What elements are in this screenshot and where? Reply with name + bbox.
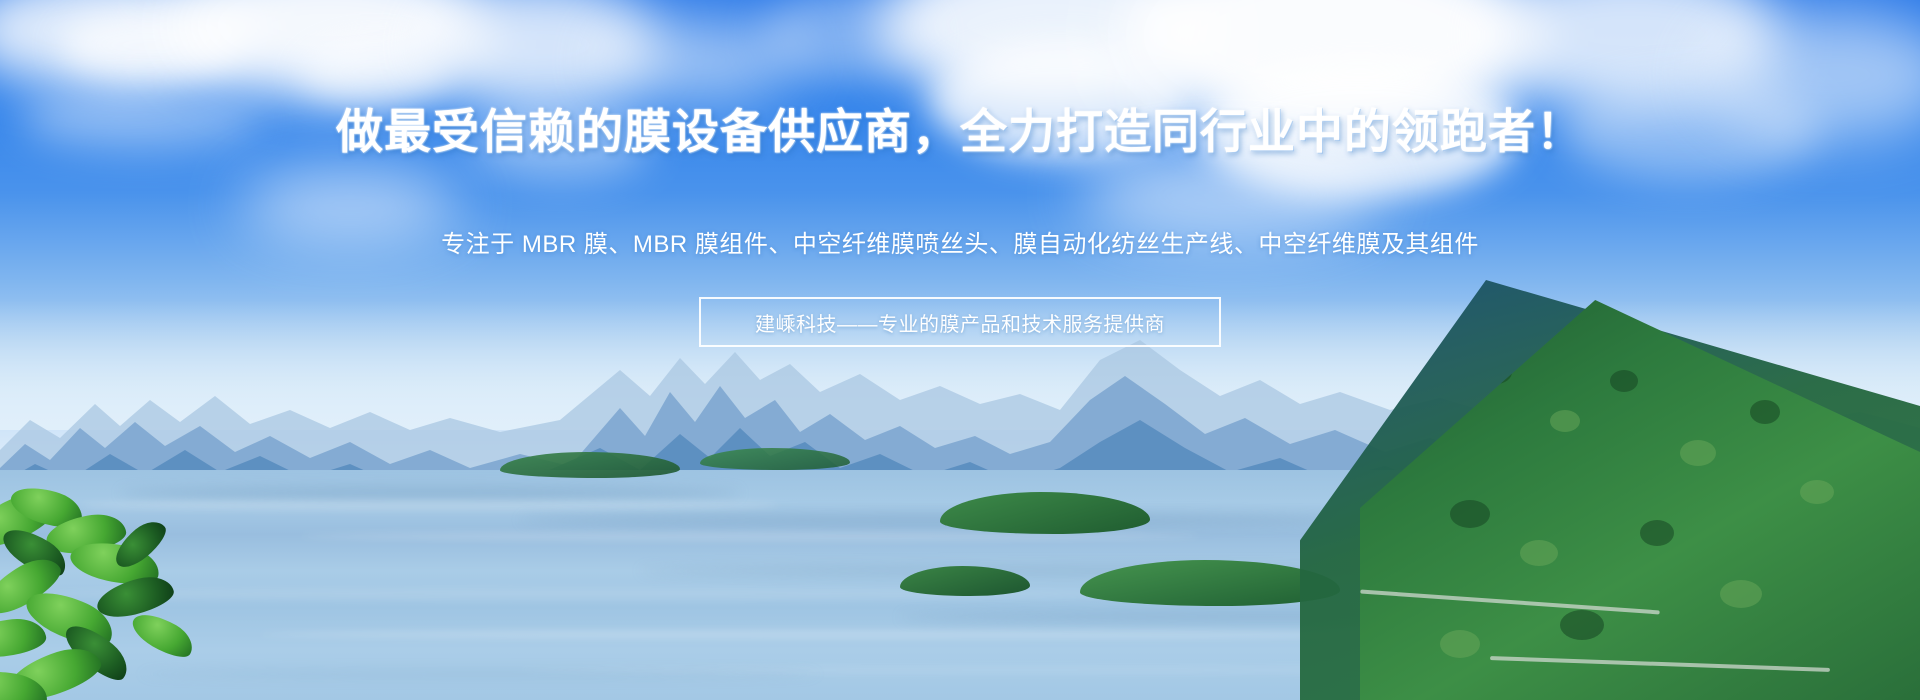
hillside-road xyxy=(1360,590,1660,615)
tagline-container: 建嵊科技——专业的膜产品和技术服务提供商 xyxy=(0,297,1920,347)
hero-banner: 做最受信赖的膜设备供应商，全力打造同行业中的领跑者！ 专注于 MBR 膜、MBR… xyxy=(0,0,1920,700)
foreground-foliage xyxy=(0,490,230,700)
tagline-box: 建嵊科技——专业的膜产品和技术服务提供商 xyxy=(699,297,1221,347)
hillside-road-lower xyxy=(1490,656,1830,672)
banner-subheadline: 专注于 MBR 膜、MBR 膜组件、中空纤维膜喷丝头、膜自动化纺丝生产线、中空纤… xyxy=(0,228,1920,262)
banner-headline: 做最受信赖的膜设备供应商，全力打造同行业中的领跑者！ xyxy=(0,104,1920,160)
